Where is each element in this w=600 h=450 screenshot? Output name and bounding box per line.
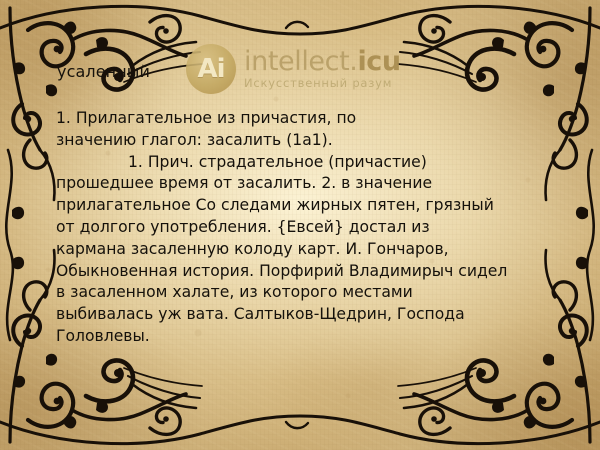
entry-line: от долгого употребления. {Евсей} достал …: [56, 217, 526, 239]
left-side-wave: [6, 150, 24, 340]
entry-line: кармана засаленную колоду карт. И. Гонча…: [56, 239, 526, 261]
entry-line: Обыкновенная история. Порфирий Владимиры…: [56, 261, 526, 283]
top-border-swag: [0, 6, 600, 42]
entry-line: 1. Прич. страдательное (причастие): [56, 152, 526, 174]
watermark-text: intellect.icu Искусственный разум: [244, 48, 401, 90]
watermark-brand-bold: icu: [357, 46, 400, 77]
entry-line: прошедшее время от засалить. 2. в значен…: [56, 173, 526, 195]
dictionary-page: Ai intellect.icu Искусственный разум уса…: [0, 0, 600, 450]
ai-logo-icon: Ai: [186, 44, 236, 94]
entry-line: в засаленном халате, из которого местами: [56, 282, 526, 304]
entry-line: значению глагол: засалить (1а1).: [56, 130, 526, 152]
watermark-brand-light: intellect.: [244, 46, 357, 77]
watermark: Ai intellect.icu Искусственный разум: [186, 44, 401, 94]
entry-line: прилагательное Со следами жирных пятен, …: [56, 195, 526, 217]
entry-line: выбивалась уж вата. Салтыков-Щедрин, Гос…: [56, 304, 526, 326]
bottom-border-swag: [0, 408, 600, 444]
watermark-subtitle: Искусственный разум: [244, 78, 401, 90]
ai-logo-text: Ai: [197, 56, 224, 82]
right-side-wave: [576, 150, 594, 340]
entry-headword: усаленный: [57, 62, 150, 81]
entry-definition-body: 1. Прилагательное из причастия, позначен…: [56, 108, 526, 348]
entry-line: 1. Прилагательное из причастия, по: [56, 108, 526, 130]
watermark-brand: intellect.icu: [244, 48, 401, 75]
entry-line: Головлевы.: [56, 326, 526, 348]
